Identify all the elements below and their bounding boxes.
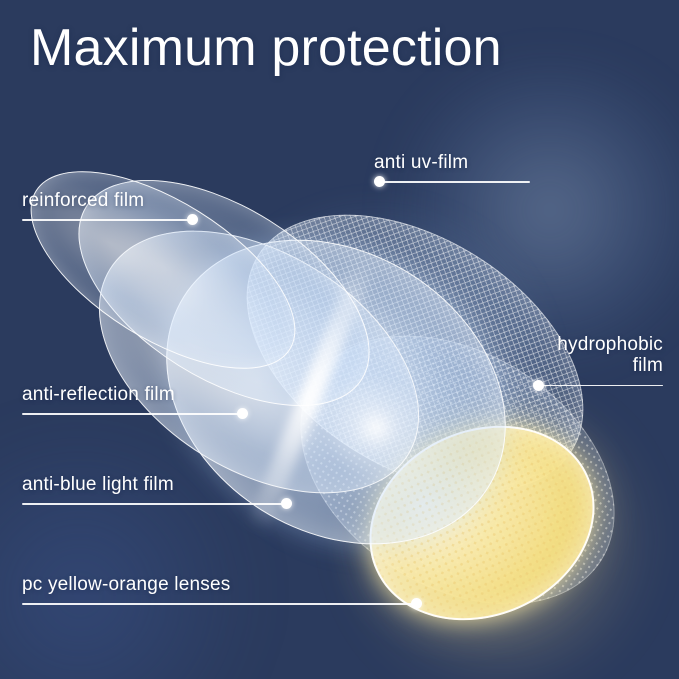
leader-line [22,413,242,415]
background-glow-bottom-left [0,430,270,679]
callout-pc-yellow-orange-lenses: pc yellow-orange lenses [22,574,422,609]
callout-label-anti-blue-light-film: anti-blue light film [22,474,292,495]
lens-layer-reinforced [0,132,327,408]
callout-leader-anti-uv-film [374,176,530,187]
leader-dot [533,380,544,391]
leader-line [539,385,663,387]
callout-hydrophobic-film: hydrophobic film [533,334,663,391]
leader-dot [187,214,198,225]
background-glow-yellow [330,400,670,679]
callout-leader-anti-reflection-film [22,408,248,419]
callout-label-reinforced-film: reinforced film [22,190,198,211]
leader-dot [411,598,422,609]
callout-anti-blue-light-film: anti-blue light film [22,474,292,509]
leader-line [22,603,416,605]
leader-line [22,503,286,505]
page-title: Maximum protection [30,18,502,78]
callout-reinforced-film: reinforced film [22,190,198,225]
leader-dot [281,498,292,509]
callout-label-hydrophobic-film-line2: film [533,355,663,376]
lens-layer-pc-yellow-orange [338,391,626,655]
leader-dot [374,176,385,187]
background-glow-top-right [380,60,679,360]
callout-anti-uv-film: anti uv-film [374,152,530,187]
callout-anti-reflection-film: anti-reflection film [22,384,248,419]
callout-leader-hydrophobic-film [533,380,663,391]
callout-leader-reinforced-film [22,214,198,225]
callout-label-hydrophobic-film-line1: hydrophobic [533,334,663,355]
leader-dot [237,408,248,419]
leader-line [22,219,192,221]
leader-line [380,181,530,183]
callout-label-anti-reflection-film: anti-reflection film [22,384,248,405]
infographic-canvas: Maximum protection reinforced film anti … [0,0,679,679]
callout-leader-pc-yellow-orange-lenses [22,598,422,609]
specular-light-burst [316,368,436,488]
callout-leader-anti-blue-light-film [22,498,292,509]
callout-label-pc-yellow-orange-lenses: pc yellow-orange lenses [22,574,422,595]
callout-label-anti-uv-film: anti uv-film [374,152,530,173]
